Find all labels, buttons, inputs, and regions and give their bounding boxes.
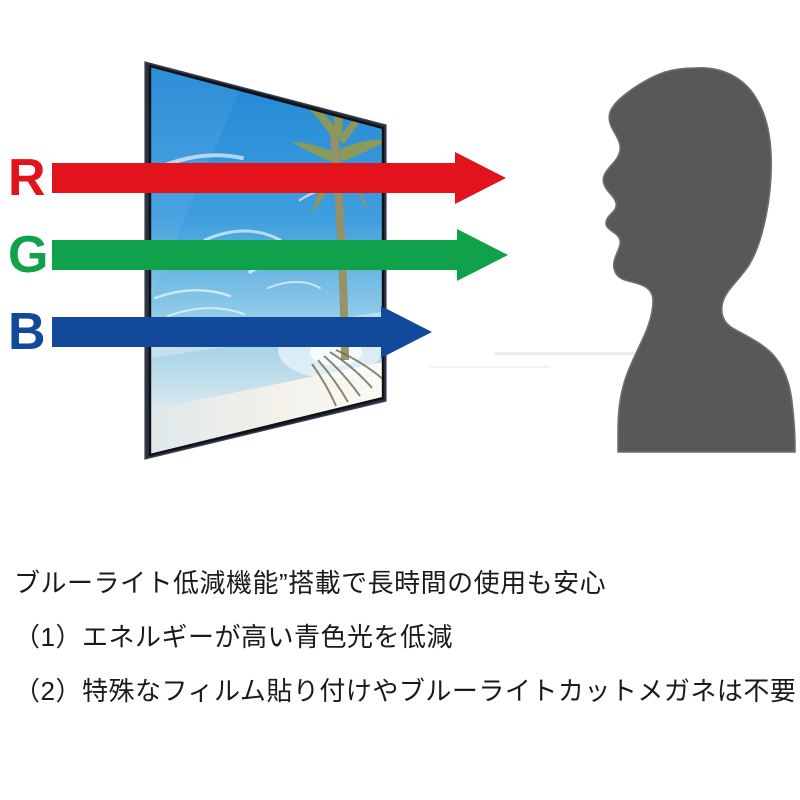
person-silhouette: [603, 68, 795, 452]
beam-label-blue: B: [8, 306, 46, 358]
beam-label-red: R: [8, 152, 46, 204]
beam-label-green: G: [8, 229, 48, 281]
caption-line-point-1: （1）エネルギーが高い青色光を低減: [14, 610, 794, 664]
caption-line-point-2: （2）特殊なフィルム貼り付けやブルーライトカットメガネは不要: [14, 664, 794, 718]
diagram-svg: [0, 0, 800, 540]
caption-block: ブルーライト低減機能”搭載で長時間の使用も安心 （1）エネルギーが高い青色光を低…: [14, 556, 794, 718]
screenshot-root: R G B ブルーライト低減機能”搭載で長時間の使用も安心 （1）エネルギーが高…: [0, 0, 800, 800]
blue-light-diagram: R G B: [0, 0, 800, 540]
caption-line-headline: ブルーライト低減機能”搭載で長時間の使用も安心: [14, 556, 794, 610]
